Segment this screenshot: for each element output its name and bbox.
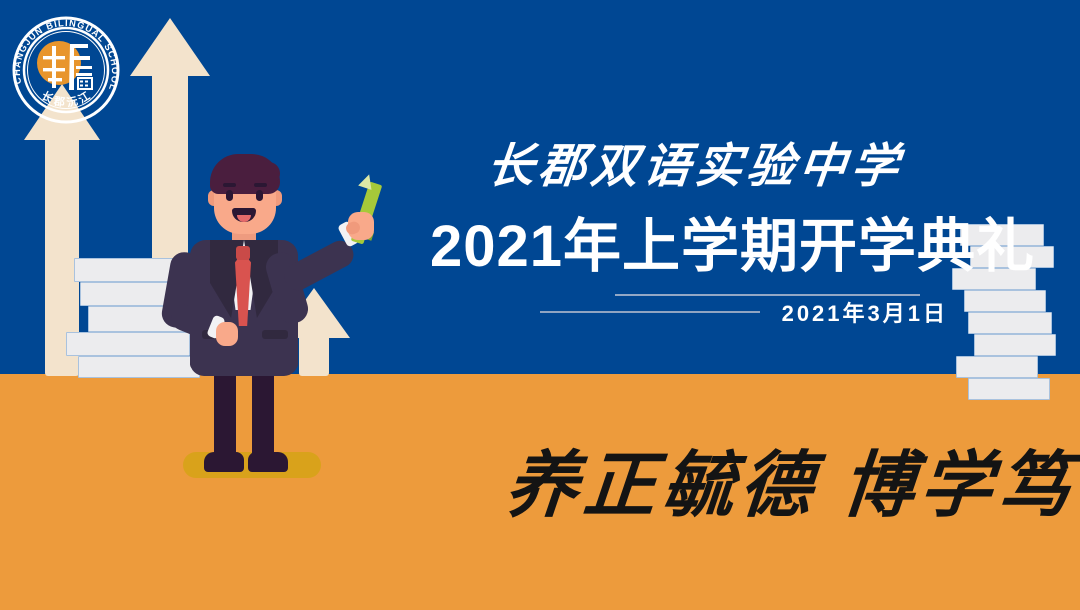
- school-logo: CHANGJUN BILINGUAL SCHOOL 长郡沅江: [12, 16, 120, 124]
- figure-eye-right: [256, 190, 263, 201]
- book-6: [974, 334, 1056, 356]
- figure-shoe-right: [248, 452, 288, 472]
- poster-canvas: CHANGJUN BILINGUAL SCHOOL 长郡沅江 长郡双语实验中学 …: [0, 0, 1080, 610]
- date-row: 2021年3月1日: [430, 296, 960, 328]
- figure-jacket-hem: [190, 336, 298, 376]
- event-title: 2021年上学期开学典礼: [430, 218, 960, 276]
- figure-eye-left: [226, 190, 233, 201]
- figure-hand-left: [216, 322, 238, 346]
- book-7: [956, 356, 1038, 378]
- figure-necktie-knot: [236, 246, 250, 260]
- event-date: 2021年3月1日: [782, 296, 948, 328]
- figure-eyebrow-right: [254, 183, 267, 187]
- school-name: 长郡双语实验中学: [427, 142, 962, 194]
- figure-pocket-right: [262, 330, 288, 339]
- school-motto: 养正毓德 博学笃行: [503, 450, 1029, 522]
- book-5: [968, 312, 1052, 334]
- figure-shoe-left: [204, 452, 244, 472]
- book-4: [964, 290, 1046, 312]
- man-with-pencil-illustration: [160, 140, 390, 485]
- date-divider: [540, 311, 760, 313]
- book-8: [968, 378, 1050, 400]
- figure-eyebrow-left: [223, 183, 236, 187]
- title-block: 长郡双语实验中学 2021年上学期开学典礼 2021年3月1日: [430, 142, 960, 328]
- title-underline: [615, 294, 920, 296]
